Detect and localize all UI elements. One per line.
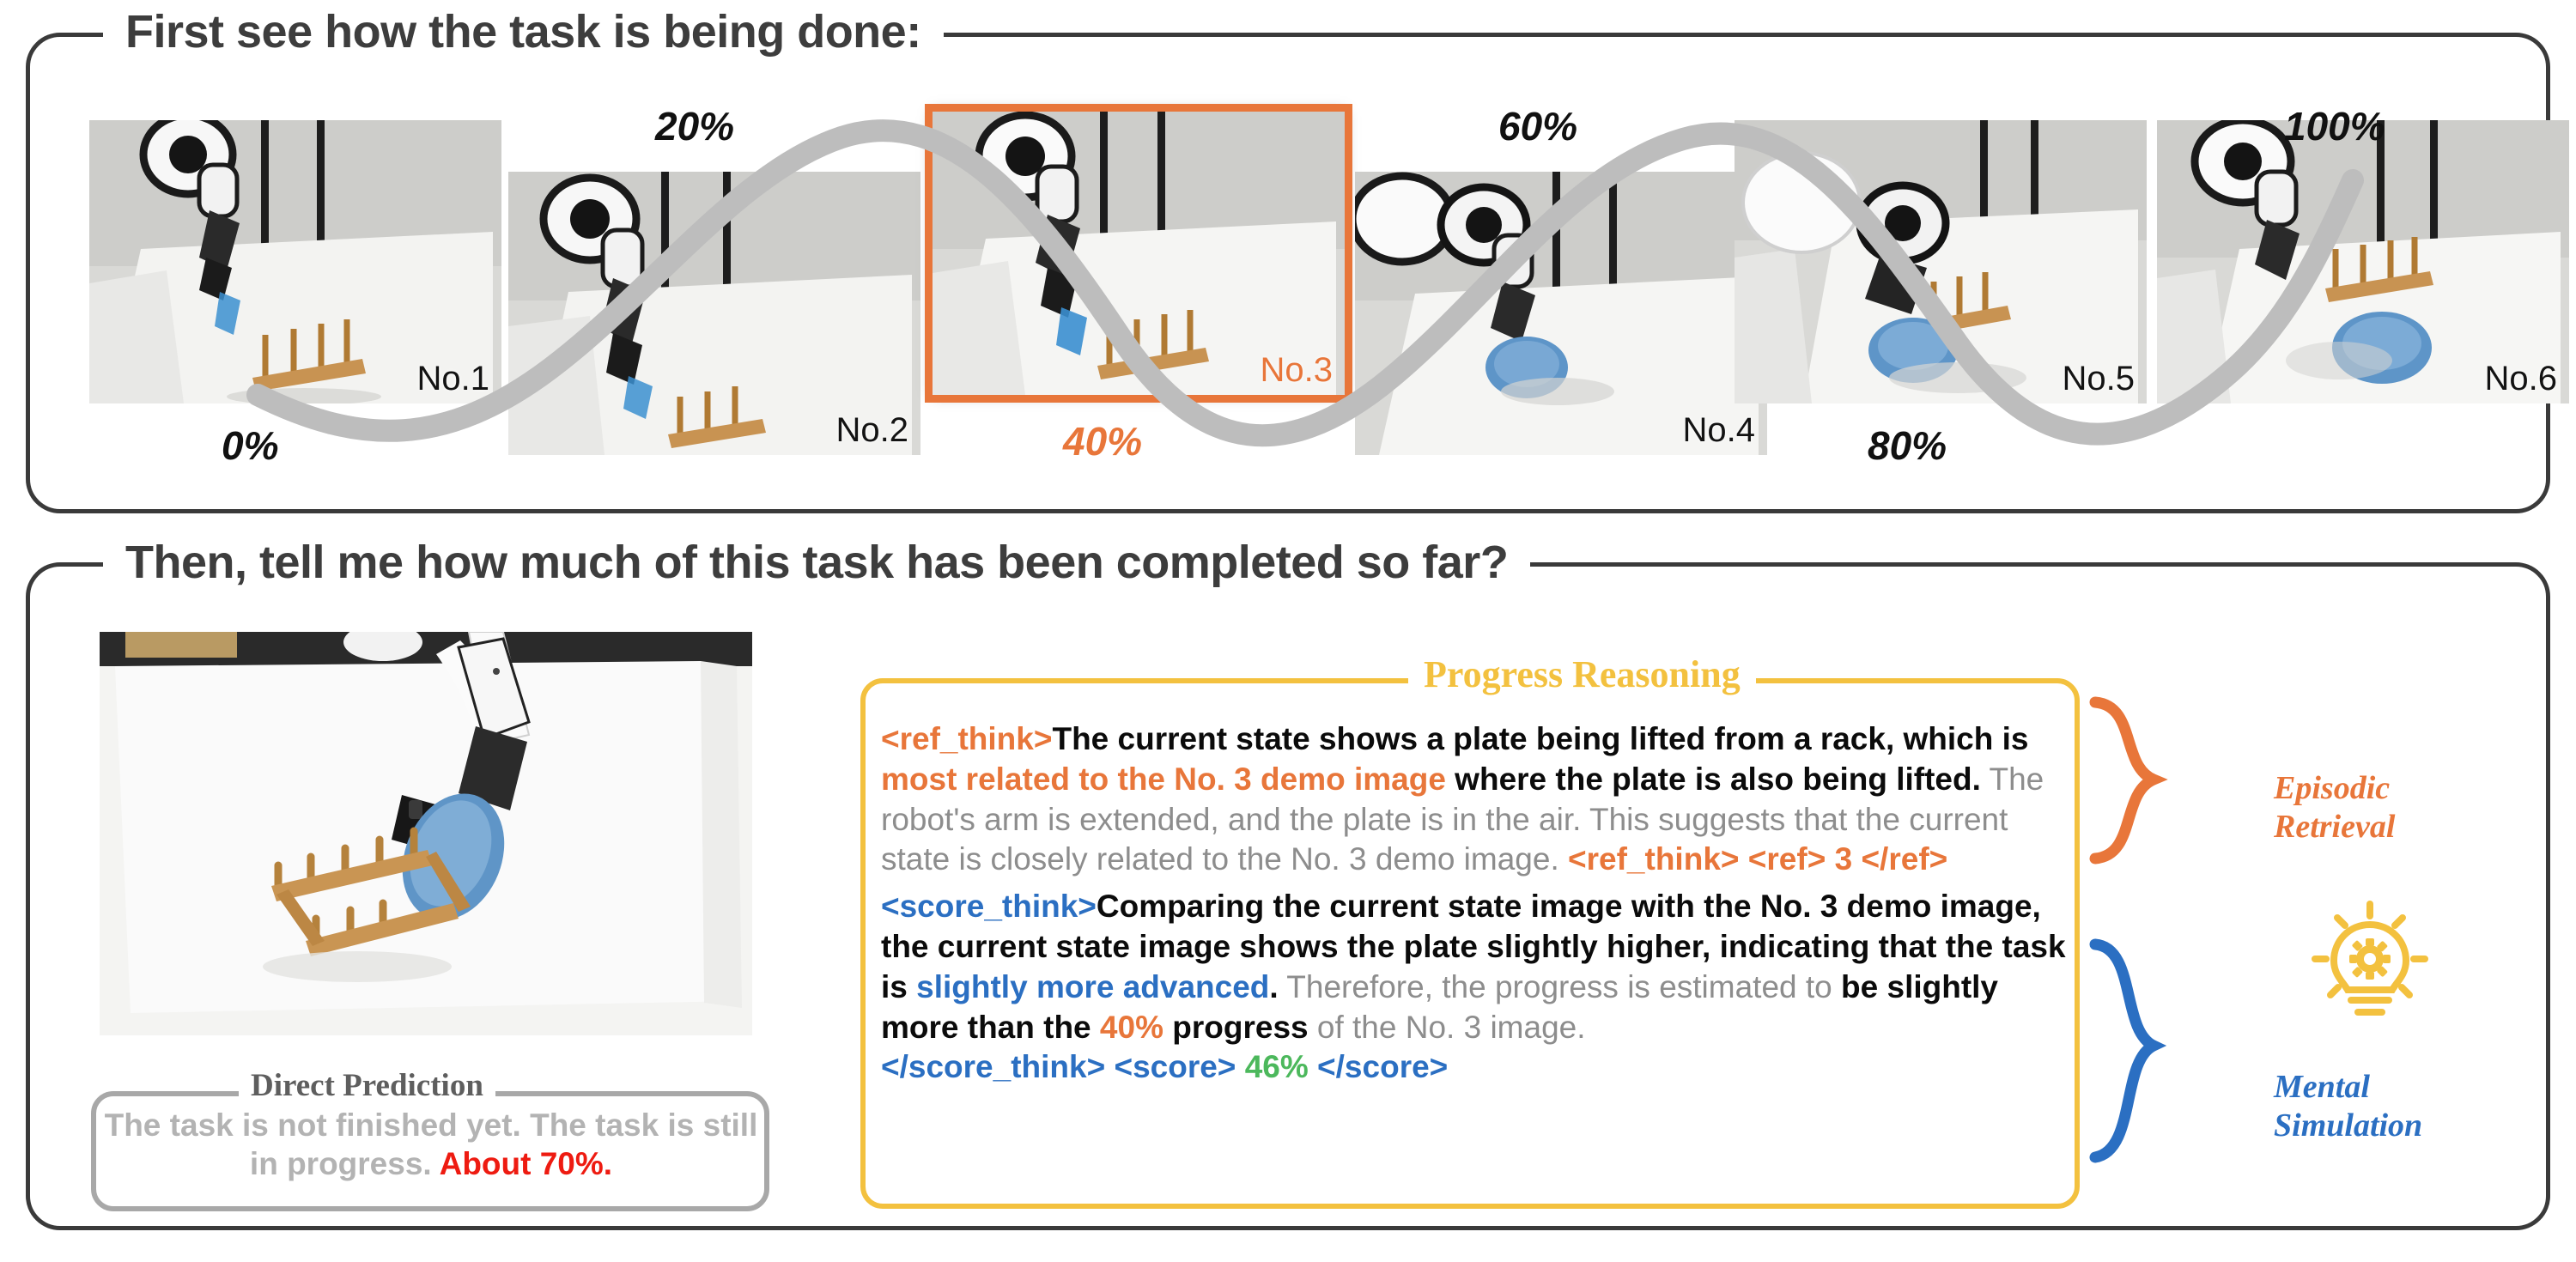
demo-frame-1-label: No.1 [417, 360, 490, 398]
score-think-ref-percent: 40% [1100, 1010, 1163, 1045]
annotation-mental-simulation: Mental Simulation [2274, 1068, 2422, 1145]
current-state-photo [100, 632, 752, 1035]
direct-prediction-gray-text: The task is not finished yet. The task i… [105, 1107, 758, 1181]
score-think-gray-1: Therefore, the progress is estimated to [1279, 969, 1841, 1004]
query-panel-title: Then, tell me how much of this task has … [103, 539, 1530, 585]
annotation-mental-line2: Simulation [2274, 1107, 2422, 1145]
ref-value: 3 [1835, 841, 1853, 877]
demo-percent-0: 0% [222, 422, 278, 469]
demo-percent-100: 100% [2284, 103, 2385, 149]
score-value: 46% [1245, 1049, 1309, 1084]
ref-close-tag: </ref> [1861, 841, 1947, 877]
progress-wave-connector [0, 0, 2576, 515]
score-think-open-tag: <score_think> [881, 889, 1097, 924]
demo-frame-6-label: No.6 [2485, 360, 2558, 398]
ref-think-highlight: most related to the No. 3 demo image [881, 761, 1446, 797]
demo-percent-80: 80% [1868, 422, 1947, 469]
progress-reasoning-text: <ref_think>The current state shows a pla… [881, 719, 2066, 1088]
demo-frame-5-label: No.5 [2063, 360, 2136, 398]
ref-think-close-tag: <ref_think> [1568, 841, 1739, 877]
annotation-episodic-line2: Retrieval [2274, 808, 2395, 846]
score-open-tag: <score> [1114, 1049, 1236, 1084]
annotation-mental-line1: Mental [2274, 1068, 2422, 1107]
annotation-braces [2087, 687, 2284, 1219]
demo-percent-20: 20% [655, 103, 734, 149]
ref-think-bold-2: where the plate is also being lifted. [1446, 761, 1981, 797]
demo-frame-4-label: No.4 [1683, 411, 1756, 450]
score-close-tag: </score> [1317, 1049, 1448, 1084]
score-think-gray-2: of the No. 3 image. [1309, 1010, 1586, 1045]
annotation-episodic-retrieval: Episodic Retrieval [2274, 769, 2395, 846]
direct-prediction-title: Direct Prediction [239, 1067, 495, 1104]
current-state-image[interactable] [100, 632, 752, 1035]
score-think-highlight: slightly more advanced [916, 969, 1269, 1004]
lightbulb-gear-icon [2301, 889, 2439, 1034]
annotation-episodic-line1: Episodic [2274, 769, 2395, 808]
direct-prediction-percent: About 70%. [440, 1146, 612, 1181]
score-think-bold-1b: . [1269, 969, 1278, 1004]
score-think-bold-2b: progress [1163, 1010, 1309, 1045]
ref-think-open-tag: <ref_think> [881, 721, 1052, 756]
progress-reasoning-title: Progress Reasoning [1408, 652, 1756, 696]
demo-frame-3-label: No.3 [1261, 351, 1334, 390]
demo-filmstrip: No.1 0% No.2 20% [0, 0, 2576, 515]
demo-percent-40: 40% [1063, 418, 1142, 464]
score-think-close-tag: </score_think> [881, 1049, 1105, 1084]
demo-percent-60: 60% [1498, 103, 1577, 149]
direct-prediction-text: The task is not finished yet. The task i… [96, 1106, 766, 1183]
demo-frame-2-label: No.2 [836, 411, 909, 450]
ref-think-bold-1: The current state shows a plate being li… [1052, 721, 2028, 756]
ref-open-tag: <ref> [1748, 841, 1826, 877]
